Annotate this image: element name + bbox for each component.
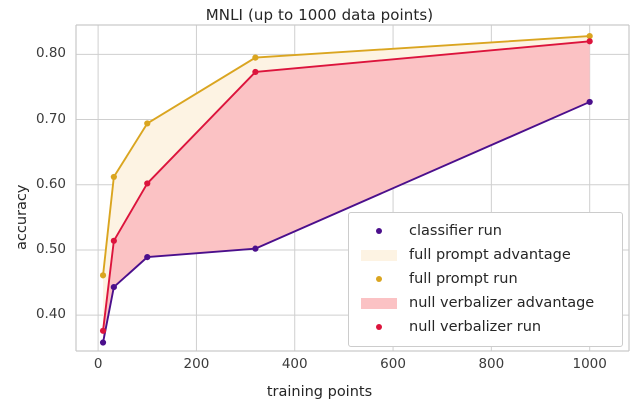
legend-patch-swatch	[357, 298, 401, 309]
y-tick-label: 0.60	[8, 176, 66, 192]
x-tick-label: 400	[255, 356, 335, 372]
data-point-classifier	[144, 254, 150, 260]
data-point-null_verbalizer	[252, 69, 258, 75]
y-tick-label: 0.70	[8, 111, 66, 127]
legend-item: full prompt run	[357, 267, 612, 291]
chart-legend: classifier runfull prompt advantagefull …	[348, 212, 623, 347]
x-tick-label: 800	[451, 356, 531, 372]
swatch	[361, 250, 397, 261]
legend-marker-icon	[357, 276, 401, 282]
legend-item-label: null verbalizer advantage	[401, 295, 594, 311]
legend-item-label: full prompt advantage	[401, 247, 571, 263]
legend-item-label: full prompt run	[401, 271, 518, 287]
y-tick-label: 0.80	[8, 45, 66, 61]
data-point-full_prompt	[100, 272, 106, 278]
data-point-null_verbalizer	[144, 180, 150, 186]
x-tick-label: 1000	[550, 356, 630, 372]
x-tick-label: 600	[353, 356, 433, 372]
legend-marker-icon	[357, 228, 401, 234]
y-tick-label: 0.40	[8, 306, 66, 322]
chart-figure: MNLI (up to 1000 data points) accuracy t…	[0, 0, 639, 408]
legend-item: full prompt advantage	[357, 243, 612, 267]
data-point-classifier	[100, 339, 106, 345]
dot-icon	[376, 228, 382, 234]
swatch	[361, 298, 397, 309]
y-tick-label: 0.50	[8, 241, 66, 257]
legend-patch-swatch	[357, 250, 401, 261]
data-point-full_prompt	[111, 174, 117, 180]
dot-icon	[376, 276, 382, 282]
data-point-classifier	[252, 246, 258, 252]
data-point-null_verbalizer	[587, 38, 593, 44]
legend-item: null verbalizer advantage	[357, 291, 612, 315]
legend-item: null verbalizer run	[357, 315, 612, 339]
dot-icon	[376, 324, 382, 330]
data-point-null_verbalizer	[100, 328, 106, 334]
legend-item: classifier run	[357, 219, 612, 243]
data-point-full_prompt	[252, 55, 258, 61]
legend-marker-icon	[357, 324, 401, 330]
x-tick-label: 0	[58, 356, 138, 372]
legend-item-label: classifier run	[401, 223, 502, 239]
data-point-classifier	[111, 284, 117, 290]
x-axis-label: training points	[0, 384, 639, 400]
x-tick-label: 200	[156, 356, 236, 372]
legend-item-label: null verbalizer run	[401, 319, 541, 335]
data-point-classifier	[587, 99, 593, 105]
data-point-null_verbalizer	[111, 238, 117, 244]
data-point-full_prompt	[144, 120, 150, 126]
